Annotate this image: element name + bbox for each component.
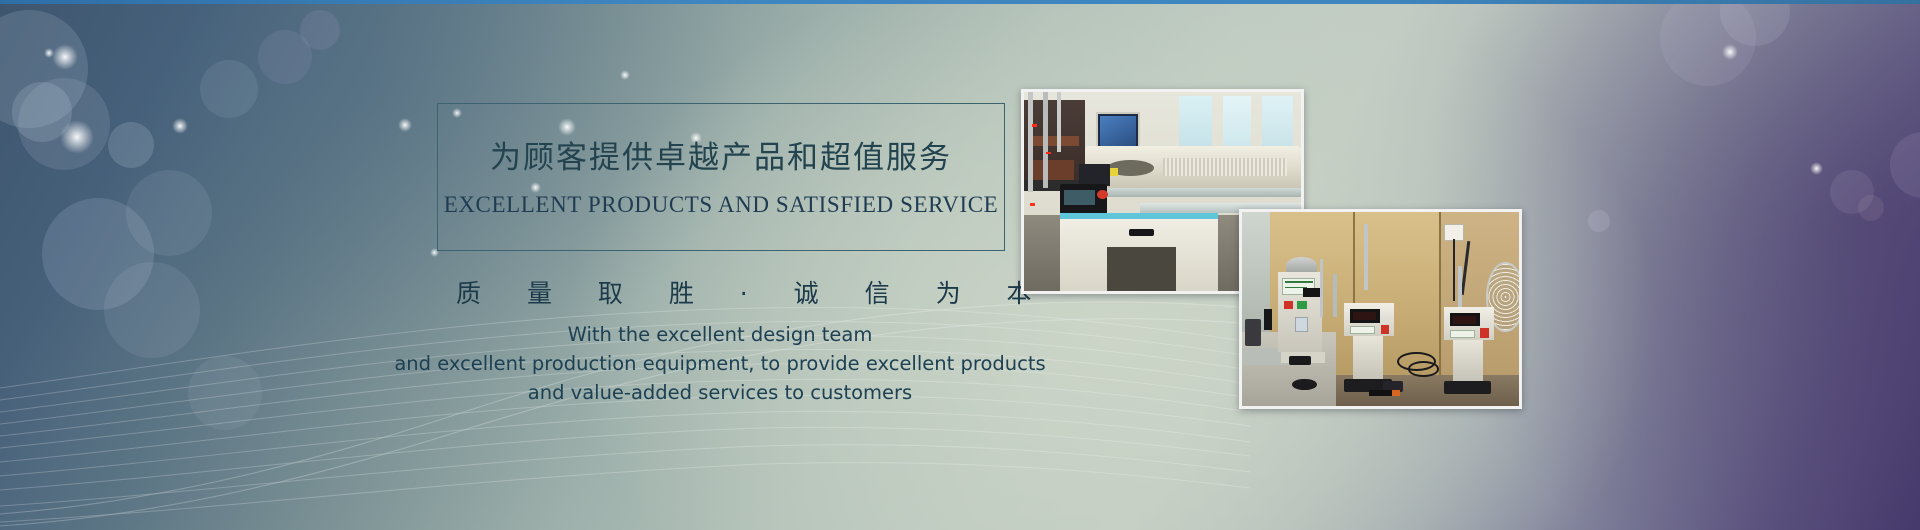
company-slogan: 质 量 取 胜 · 诚 信 为 本 [437, 274, 1005, 310]
description-line-3: and value-added services to customers [330, 378, 1110, 407]
description-paragraph: With the excellent design team and excel… [330, 320, 1110, 407]
description-line-2: and excellent production equipment, to p… [330, 349, 1110, 378]
photo-press-machines-workshop [1239, 209, 1522, 409]
description-line-1: With the excellent design team [330, 320, 1110, 349]
page-subtitle: EXCELLENT PRODUCTS AND SATISFIED SERVICE [438, 192, 1004, 218]
title-frame: 为顾客提供卓越产品和超值服务 EXCELLENT PRODUCTS AND SA… [437, 103, 1005, 251]
promo-banner: 为顾客提供卓越产品和超值服务 EXCELLENT PRODUCTS AND SA… [0, 0, 1920, 530]
page-title: 为顾客提供卓越产品和超值服务 [438, 132, 1004, 177]
photo-image [1242, 212, 1519, 406]
